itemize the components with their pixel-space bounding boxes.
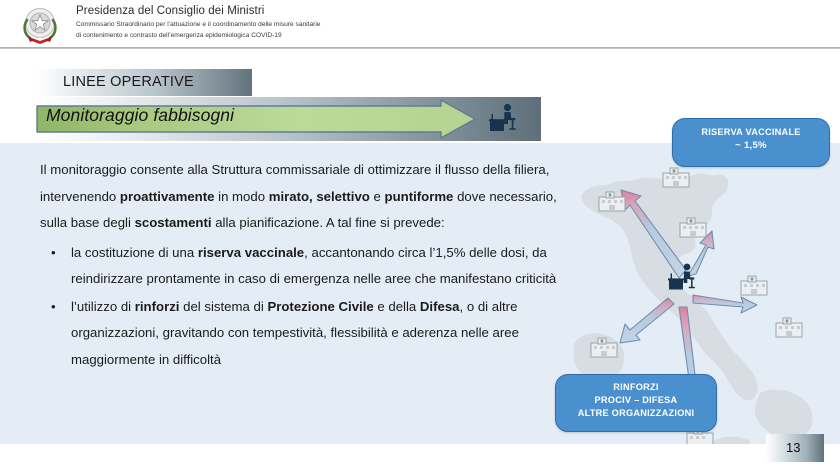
bullet-marker: • [51,294,56,321]
bullet2-seg-1: l’utilizzo di [71,299,135,314]
para-seg-3: e [370,189,385,204]
para-seg-2: in modo [214,189,268,204]
body-copy: Il monitoraggio consente alla Struttura … [40,157,570,373]
italian-republic-emblem-icon [18,4,62,46]
slide-root: Presidenza del Consiglio dei Ministri Co… [0,0,840,472]
callout-rinforzi-line2: PROCIV – DIFESA [556,394,716,407]
para-bold-1: proattivamente [120,189,215,204]
para-bold-4: scostamenti [135,215,212,230]
person-at-desk-icon [484,100,522,138]
slide-header: Presidenza del Consiglio dei Ministri Co… [0,0,840,48]
section-kicker-label: LINEE OPERATIVE [63,74,194,90]
para-bold-3: puntiforme [385,189,454,204]
para-seg-5: alla pianificazione. A tal fine si preve… [212,215,445,230]
list-item: •l’utilizzo di rinforzi del sistema di P… [40,294,570,374]
bullet2-bold-1: rinforzi [135,299,180,314]
callout-rinforzi-line1: RINFORZI [556,381,716,394]
section-banner-title: Monitoraggio fabbisogni [46,105,234,126]
header-title: Presidenza del Consiglio dei Ministri [76,4,596,18]
header-subtitle-line2: di contenimento e contrasto dell’emergen… [76,31,596,40]
bullet2-bold-3: Difesa [420,299,460,314]
header-divider [0,47,840,49]
header-text-block: Presidenza del Consiglio dei Ministri Co… [76,4,596,40]
bullet2-seg-3: e della [374,299,420,314]
callout-rinforzi-line3: ALTRE ORGANIZZAZIONI [556,407,716,420]
bullet-marker: • [51,240,56,267]
bullet1-bold-1: riserva vaccinale [198,245,304,260]
callout-riserva-line1: RISERVA VACCINALE [673,126,829,139]
page-number: 13 [786,440,800,455]
hospital-icon [776,318,802,337]
callout-riserva-vaccinale: RISERVA VACCINALE ~ 1,5% [672,118,830,167]
callout-rinforzi: RINFORZI PROCIV – DIFESA ALTRE ORGANIZZA… [555,374,717,432]
hospital-icon [663,168,689,187]
callout-riserva-line2: ~ 1,5% [673,139,829,152]
arrow-southwest [620,298,674,343]
bullet2-seg-2: del sistema di [179,299,267,314]
intro-paragraph: Il monitoraggio consente alla Struttura … [40,157,570,237]
bullet-list: •la costituzione di una riserva vaccinal… [40,240,570,374]
bullet1-seg-1: la costituzione di una [71,245,198,260]
bullet2-bold-2: Protezione Civile [267,299,373,314]
hospital-icon [741,276,767,295]
para-bold-2: mirato, selettivo [269,189,370,204]
list-item: •la costituzione di una riserva vaccinal… [40,240,570,293]
header-subtitle-line1: Commissario Straordinario per l’attuazio… [76,20,596,29]
